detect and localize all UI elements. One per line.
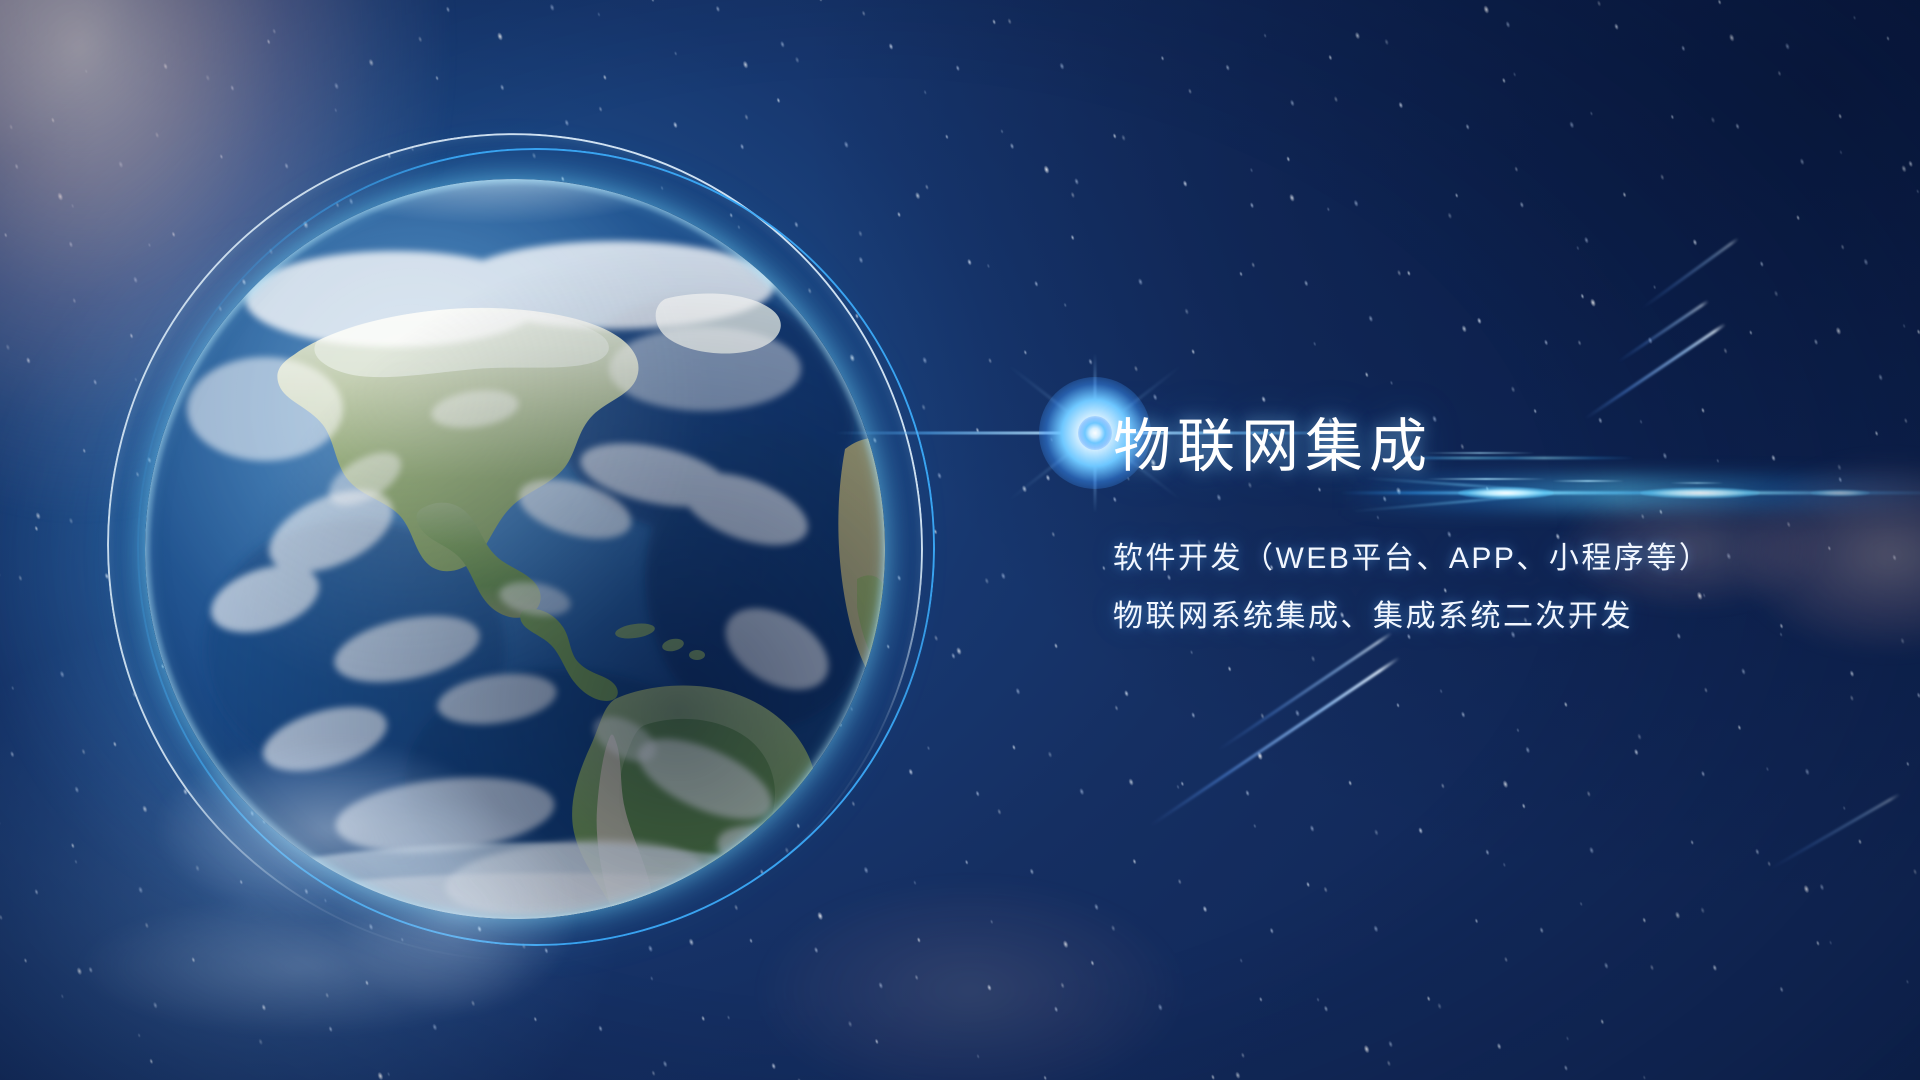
banner-subtitle-1: 软件开发（WEB平台、APP、小程序等） [1113, 544, 1873, 574]
banner-text-block: 物联网集成 软件开发（WEB平台、APP、小程序等） 物联网系统集成、集成系统二… [1113, 418, 1873, 632]
banner-subtitle-2: 物联网系统集成、集成系统二次开发 [1113, 602, 1873, 632]
page-title: 物联网集成 [1113, 418, 1873, 476]
hero-banner: 物联网集成 软件开发（WEB平台、APP、小程序等） 物联网系统集成、集成系统二… [0, 0, 1920, 1080]
